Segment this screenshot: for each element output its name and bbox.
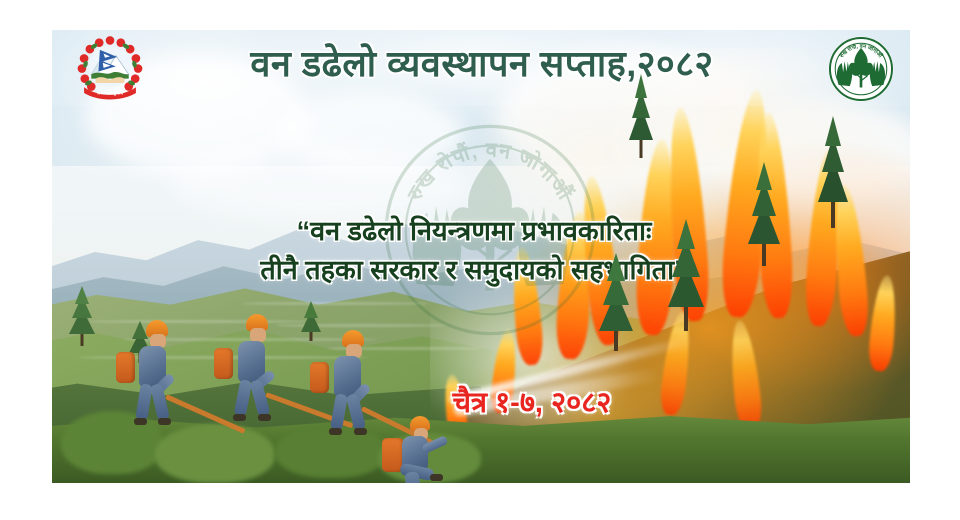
pine-tree	[69, 284, 95, 346]
cloud	[172, 148, 464, 220]
pine-tree	[629, 66, 653, 158]
pine-tree	[748, 148, 780, 266]
forest-department-logo: रुख रोपौं, वन जोगाऔं	[828, 36, 894, 102]
poster-canvas: रुख रोपौं, वन जोगाऔं	[0, 0, 960, 520]
firefighter-kneeling	[382, 416, 462, 483]
pine-tree	[668, 211, 704, 331]
terrace-line	[241, 302, 430, 305]
pine-tree	[818, 102, 848, 228]
nepal-government-emblem: जननी जन्मभूमिश्च	[74, 34, 146, 106]
event-banner-image: रुख रोपौं, वन जोगाऔं	[52, 30, 910, 483]
pine-tree	[599, 247, 633, 351]
firefighter	[210, 314, 302, 464]
firefighter	[114, 320, 200, 460]
page-title: वन डढेलो व्यवस्थापन सप्ताह,२०८२	[162, 38, 802, 87]
event-date: चैत्र १-७, २०८२	[352, 382, 712, 421]
